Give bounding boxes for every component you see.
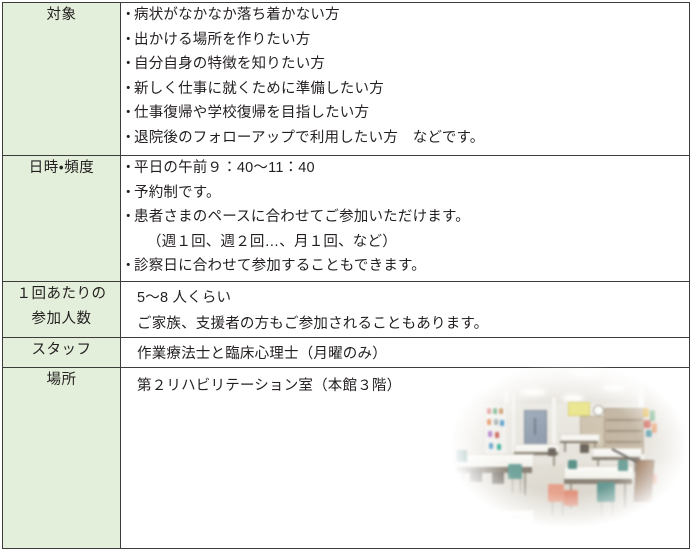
photo-table-side	[560, 441, 598, 443]
list-item: ・予約制です。	[121, 181, 689, 206]
text-block-capacity: 5〜8 人くらい ご家族、支援者の方もご参加されることもあります。	[121, 285, 689, 337]
bullet-list-target: ・病状がなかなか落ち着かない方 ・出かける場所を作りたい方 ・自分自身の特徴を知…	[121, 3, 689, 150]
photo-chair-leg	[601, 502, 602, 517]
photo-chair	[456, 450, 467, 462]
photo-shelf-left	[484, 404, 508, 458]
photo-table-leg	[553, 455, 555, 466]
list-item: ・患者さまのペースに合わせてご参加いただけます。	[121, 205, 689, 230]
bullet-icon: ・	[121, 254, 134, 279]
row-label-text-line2: 参加人数	[3, 307, 120, 332]
list-item-text: 病状がなかなか落ち着かない方	[134, 7, 340, 23]
table-row-target: 対象 ・病状がなかなか落ち着かない方 ・出かける場所を作りたい方 ・自分自身の特…	[3, 3, 690, 156]
bullet-icon: ・	[121, 28, 134, 53]
photo-wood-board	[634, 460, 655, 502]
row-label-text: 日時・頻度	[3, 156, 120, 181]
photo-poster	[568, 402, 590, 416]
list-item-text: 仕事復帰や学校復帰を目指したい方	[134, 105, 369, 121]
list-item: ・平日の午前９：40〜11：40	[121, 156, 689, 181]
bullet-icon: ・	[121, 205, 134, 230]
bullet-icon: ・	[121, 126, 134, 151]
bullet-icon: ・	[121, 181, 134, 206]
ceiling-light-icon	[492, 368, 516, 372]
bullet-icon: ・	[121, 52, 134, 77]
photo-chair-leg	[552, 502, 553, 516]
list-item: ・仕事復帰や学校復帰を目指したい方	[121, 101, 689, 126]
list-item: ・新しく仕事に就くために準備したい方	[121, 77, 689, 102]
photo-chair-leg	[612, 502, 613, 517]
table-row-schedule: 日時・頻度 ・平日の午前９：40〜11：40 ・予約制です。 ・患者さまのペース…	[3, 156, 690, 282]
list-item: ・自分自身の特徴を知りたい方	[121, 52, 689, 77]
list-item-text: 患者さまのペースに合わせてご参加いただけます。	[134, 209, 470, 225]
photo-chair	[564, 490, 578, 506]
list-item: ・病状がなかなか落ち着かない方	[121, 3, 689, 28]
photo-chair	[470, 470, 482, 482]
photo-chair-leg	[520, 479, 521, 493]
row-label-text: スタッフ	[3, 338, 120, 363]
row-label-text-line1: １回あたりの	[3, 282, 120, 307]
row-value-schedule: ・平日の午前９：40〜11：40 ・予約制です。 ・患者さまのペースに合わせてご…	[121, 156, 690, 282]
rehabilitation-room-photo	[452, 364, 685, 526]
list-item: ・診察日に合わせて参加することもできます。	[121, 254, 689, 279]
photo-hanging-items	[642, 408, 660, 438]
photo-chair	[492, 472, 504, 484]
row-label-staff: スタッフ	[3, 338, 121, 368]
photo-chair-leg	[512, 479, 513, 493]
program-info-sheet: 対象 ・病状がなかなか落ち着かない方 ・出かける場所を作りたい方 ・自分自身の特…	[0, 0, 695, 539]
list-item-sub: （週１回、週２回…、月１回、など）	[121, 230, 689, 255]
value-line: ご家族、支援者の方もご参加されることもあります。	[121, 311, 689, 337]
photo-chair	[597, 482, 615, 502]
photo-chair	[568, 460, 577, 469]
value-line: 5〜8 人くらい	[121, 285, 689, 311]
photo-table-leg	[564, 443, 566, 452]
ceiling-light-icon	[470, 383, 496, 388]
list-item-text: 自分自身の特徴を知りたい方	[134, 56, 325, 72]
row-label-target: 対象	[3, 3, 121, 156]
list-item: ・出かける場所を作りたい方	[121, 28, 689, 53]
list-item: ・退院後のフォローアップで利用したい方 などです。	[121, 126, 689, 151]
list-item-text: 予約制です。	[134, 185, 221, 201]
clock-icon	[593, 405, 604, 416]
photo-chair	[548, 448, 556, 456]
row-label-text: 対象	[3, 3, 120, 28]
photo-table-leg	[462, 473, 464, 495]
ceiling-light-icon	[604, 386, 624, 390]
photo-scene	[452, 364, 685, 526]
table-row-capacity: １回あたりの 参加人数 5〜8 人くらい ご家族、支援者の方もご参加されることも…	[3, 282, 690, 338]
ceiling-light-icon	[522, 390, 544, 394]
photo-chair	[548, 484, 564, 502]
bullet-icon: ・	[121, 156, 134, 181]
row-label-schedule: 日時・頻度	[3, 156, 121, 282]
row-label-capacity: １回あたりの 参加人数	[3, 282, 121, 338]
row-label-text: 場所	[3, 368, 120, 393]
photo-table-leg	[624, 484, 626, 508]
photo-chair	[618, 460, 628, 471]
list-item-text: （週１回、週２回…、月１回、など）	[147, 234, 397, 250]
row-label-place: 場所	[3, 368, 121, 549]
ceiling-light-icon	[564, 396, 582, 400]
photo-chair-leg	[562, 502, 563, 516]
row-value-staff: 作業療法士と臨床心理士（月曜のみ）	[121, 338, 690, 368]
photo-chair	[496, 516, 518, 526]
bullet-icon: ・	[121, 77, 134, 102]
list-item-text: 診察日に合わせて参加することもできます。	[134, 258, 426, 274]
ceiling-vent-icon	[628, 366, 658, 374]
row-value-target: ・病状がなかなか落ち着かない方 ・出かける場所を作りたい方 ・自分自身の特徴を知…	[121, 3, 690, 156]
list-item-text: 新しく仕事に就くために準備したい方	[134, 81, 384, 97]
photo-table-leg	[524, 473, 526, 495]
bullet-icon: ・	[121, 3, 134, 28]
ceiling-light-icon	[572, 370, 600, 375]
list-item-text: 平日の午前９：40〜11：40	[134, 160, 315, 176]
photo-pillar	[552, 398, 556, 450]
row-value-capacity: 5〜8 人くらい ご家族、支援者の方もご参加されることもあります。	[121, 282, 690, 338]
photo-chair	[580, 444, 589, 453]
photo-chair	[508, 464, 522, 479]
table-row-staff: スタッフ 作業療法士と臨床心理士（月曜のみ）	[3, 338, 690, 368]
bullet-list-schedule: ・平日の午前９：40〜11：40 ・予約制です。 ・患者さまのペースに合わせてご…	[121, 156, 689, 279]
list-item-text: 出かける場所を作りたい方	[134, 32, 310, 48]
list-item-text: 退院後のフォローアップで利用したい方 などです。	[134, 130, 484, 146]
bullet-icon: ・	[121, 101, 134, 126]
